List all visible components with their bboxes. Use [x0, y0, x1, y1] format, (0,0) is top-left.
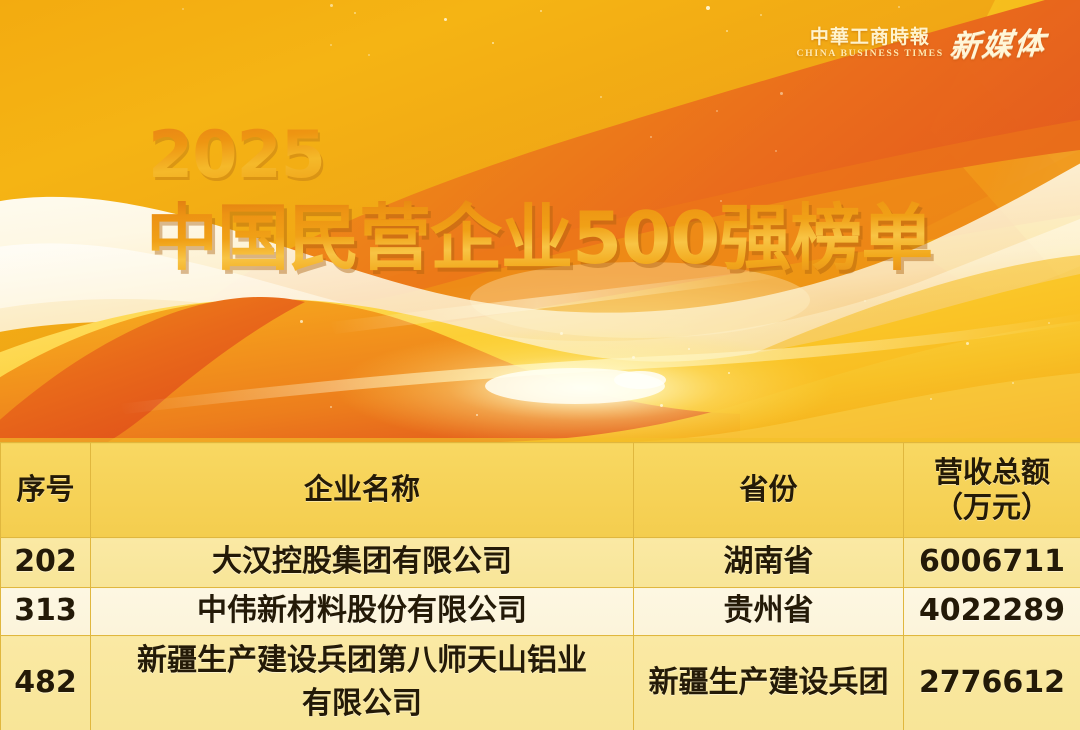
- column-header-revenue: 营收总额 （万元）: [904, 443, 1080, 538]
- sparkle-dot: [354, 12, 356, 14]
- poster-year: 2025: [148, 123, 325, 188]
- column-header-revenue-line2: （万元）: [908, 490, 1076, 525]
- sparkle-dot: [600, 96, 602, 98]
- sparkle-dot: [728, 372, 730, 374]
- logo-name-en: CHINA BUSINESS TIMES: [796, 49, 943, 59]
- sparkle-dot: [182, 8, 184, 10]
- sparkle-dot: [780, 92, 783, 95]
- sparkle-dot: [492, 42, 494, 44]
- sparkle-dot: [330, 4, 333, 7]
- sparkle-dot: [966, 342, 969, 345]
- cell-rank: 482: [1, 636, 91, 730]
- table-body: 202 大汉控股集团有限公司 湖南省 6006711 313 中伟新材料股份有限…: [1, 538, 1080, 730]
- sparkle-dot: [726, 30, 728, 32]
- sparkle-dot: [300, 320, 303, 323]
- masthead-logo: 中華工商時報 CHINA BUSINESS TIMES 新媒体: [798, 28, 1046, 61]
- poster-title: 中国民营企业500强榜单: [146, 198, 932, 279]
- cell-company-line1: 新疆生产建设兵团第八师天山铝业: [95, 640, 629, 683]
- sparkle-dot: [716, 110, 718, 112]
- logo-name-cn: 中華工商時報: [810, 28, 930, 48]
- sparkle-dot: [775, 150, 777, 152]
- table-row[interactable]: 482 新疆生产建设兵团第八师天山铝业 有限公司 新疆生产建设兵团 277661…: [1, 636, 1080, 730]
- cell-province: 新疆生产建设兵团: [634, 636, 904, 730]
- sparkle-dot: [898, 6, 900, 8]
- sparkle-dot: [330, 44, 332, 46]
- table-header-row: 序号 企业名称 省份 营收总额 （万元）: [1, 443, 1080, 538]
- sparkle-dot: [650, 136, 652, 138]
- ranking-table: 序号 企业名称 省份 营收总额 （万元） 202 大汉控股集团有限公司 湖南省 …: [0, 442, 1080, 730]
- cell-rank: 202: [1, 538, 91, 588]
- cell-revenue: 2776612: [904, 636, 1080, 730]
- sparkle-dot: [930, 398, 932, 400]
- sparkle-dot: [560, 332, 563, 335]
- cell-province: 贵州省: [634, 588, 904, 636]
- cell-revenue: 4022289: [904, 588, 1080, 636]
- sparkle-dot: [864, 300, 866, 302]
- cell-revenue: 6006711: [904, 538, 1080, 588]
- sparkle-dot: [760, 14, 762, 16]
- sparkle-dot: [632, 356, 635, 359]
- cell-province: 湖南省: [634, 538, 904, 588]
- column-header-rank: 序号: [1, 443, 91, 538]
- cell-company: 中伟新材料股份有限公司: [91, 588, 634, 636]
- decorative-banner: 中華工商時報 CHINA BUSINESS TIMES 新媒体 2025 中国民…: [0, 0, 1080, 442]
- logo-calligraphy-newmedia: 新媒体: [949, 29, 1048, 62]
- sparkle-dot: [368, 54, 370, 56]
- sparkle-dot: [330, 406, 332, 408]
- column-header-revenue-line1: 营收总额: [908, 455, 1076, 490]
- sparkle-dot: [1012, 382, 1014, 384]
- cell-rank: 313: [1, 588, 91, 636]
- sparkle-dot: [476, 414, 478, 416]
- sparkle-dot: [1048, 322, 1050, 324]
- sparkle-dot: [660, 404, 663, 407]
- cell-company: 新疆生产建设兵团第八师天山铝业 有限公司: [91, 636, 634, 730]
- sparkle-dot: [706, 6, 710, 10]
- column-header-province: 省份: [634, 443, 904, 538]
- cell-company-line2: 有限公司: [95, 683, 629, 726]
- sparkle-dot: [540, 10, 542, 12]
- table-header: 序号 企业名称 省份 营收总额 （万元）: [1, 443, 1080, 538]
- logo-newspaper-name-block: 中華工商時報 CHINA BUSINESS TIMES: [798, 28, 942, 61]
- sparkle-dot: [444, 18, 447, 21]
- poster-page: 中華工商時報 CHINA BUSINESS TIMES 新媒体 2025 中国民…: [0, 0, 1080, 730]
- ranking-table-section: 中華 CHINA TIMES: [0, 442, 1080, 730]
- table-row[interactable]: 202 大汉控股集团有限公司 湖南省 6006711: [1, 538, 1080, 588]
- sparkle-dot: [688, 348, 690, 350]
- table-row[interactable]: 313 中伟新材料股份有限公司 贵州省 4022289: [1, 588, 1080, 636]
- column-header-company: 企业名称: [91, 443, 634, 538]
- cell-company: 大汉控股集团有限公司: [91, 538, 634, 588]
